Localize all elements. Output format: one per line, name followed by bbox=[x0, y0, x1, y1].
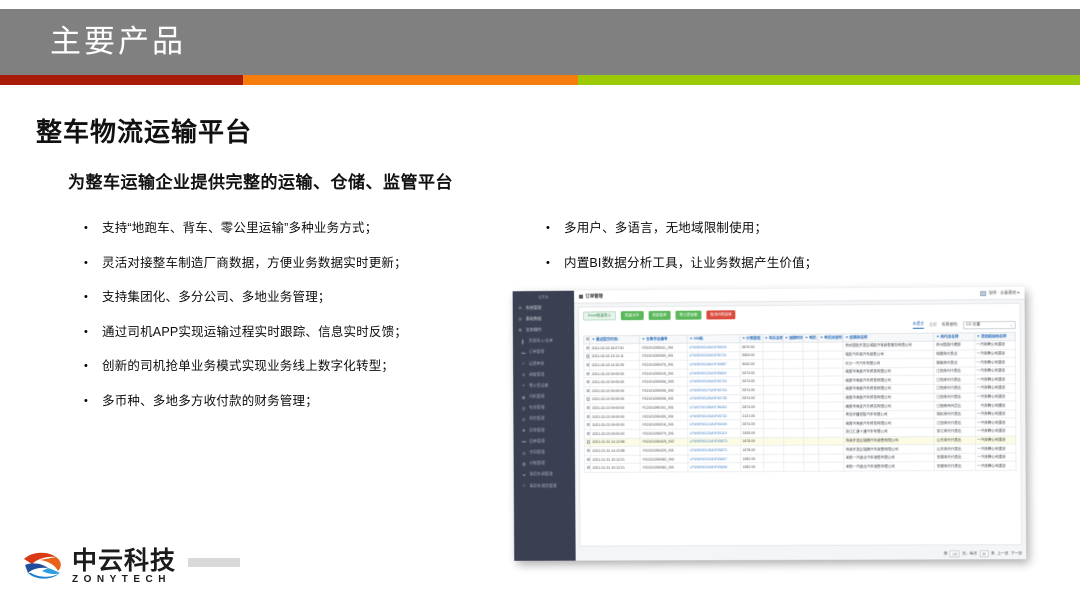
table-cell-5 bbox=[783, 403, 803, 412]
filter-icon: ▼ bbox=[592, 337, 596, 341]
table-cell-3: 2674.00 bbox=[740, 403, 763, 412]
table-cell-7 bbox=[818, 342, 843, 351]
table-cell-7 bbox=[818, 419, 843, 428]
chart-icon: ▦ bbox=[518, 327, 523, 332]
table-cell-9: 浙江商代代表出 bbox=[935, 427, 976, 436]
table-cell-1: YS2101250079_001 bbox=[640, 429, 688, 438]
table-cell-1: YS2101250096_003 bbox=[640, 378, 688, 387]
table-cell-1: YS2101250096_002 bbox=[640, 386, 688, 395]
sidebar-item-label: 系统管理 bbox=[526, 304, 567, 310]
truck-icon: ▬ bbox=[521, 350, 526, 355]
table-cell-9: 山东商代代表出 bbox=[935, 445, 976, 454]
table-cell-0: 2021-02-02 09:00:00 bbox=[590, 412, 640, 421]
table-cell-3: 2425.00 bbox=[740, 429, 763, 438]
table-cell-6 bbox=[803, 411, 818, 420]
sidebar-item-11[interactable]: ◉异常管理 bbox=[513, 424, 574, 436]
table-cell-0: 2021-01-31 14:12:58 bbox=[590, 446, 640, 455]
table-cell-3: 3042.00 bbox=[740, 360, 763, 369]
image-icon: ▥ bbox=[521, 405, 526, 410]
table-cell-10: 一汽奔腾公司建设 bbox=[975, 401, 1016, 410]
bullet-text: 创新的司机抢单业务模式实现业务线上数字化转型； bbox=[102, 357, 394, 375]
avatar bbox=[980, 291, 986, 296]
bullet-marker-icon: • bbox=[84, 357, 102, 375]
sidebar-item-label: 订单管理 bbox=[529, 349, 568, 355]
table-cell-6 bbox=[803, 377, 818, 386]
section-heading: 整车物流运输平台 bbox=[36, 112, 252, 149]
table-cell-9: 江西商代代表出 bbox=[934, 401, 975, 410]
table-cell-2: LFWSRKSJ3M1F05119 bbox=[688, 429, 741, 438]
bullet-text: 支持集团化、多分公司、多地业务管理； bbox=[102, 288, 331, 306]
table-cell-9: 江西商代代表出 bbox=[934, 419, 975, 428]
table-cell-7 bbox=[819, 454, 844, 463]
table-cell-4 bbox=[763, 428, 783, 437]
sidebar-item-label: 对账管理 bbox=[529, 460, 568, 466]
star-icon: ✦ bbox=[521, 383, 526, 388]
table-cell-2: LFWSRKSJ3M1F05872 bbox=[688, 446, 741, 455]
table-cell-5 bbox=[783, 394, 803, 403]
filter-icon: ▼ bbox=[805, 335, 809, 339]
breadcrumb-label: 订单管理 bbox=[585, 293, 602, 299]
table-cell-7 bbox=[819, 463, 844, 472]
sidebar-item-label: 回单管理 bbox=[529, 438, 568, 444]
table-cell-10: 一汽奔腾公司建设 bbox=[975, 358, 1016, 367]
table-cell-1: YS2101250429_001 bbox=[640, 446, 688, 455]
table-cell-3: 2674.00 bbox=[740, 394, 763, 403]
filter-icon: ▼ bbox=[742, 336, 746, 340]
column-header-label: 计费里程 bbox=[746, 336, 760, 340]
shield-icon: ▤ bbox=[521, 416, 526, 421]
topbar-spacer bbox=[603, 293, 980, 296]
pagination-mid: 页，每页 bbox=[962, 551, 977, 556]
sidebar-item-label: 乘用车保险管理 bbox=[530, 483, 569, 489]
table-cell-2: LFWSRKSJ5M1F05735 bbox=[688, 394, 741, 403]
table-cell-4 bbox=[763, 342, 783, 351]
table-cell-3: 3903.00 bbox=[740, 351, 763, 360]
table-cell-2: LFWSRKSJ3M1F05029 bbox=[687, 343, 740, 352]
table-cell-6 bbox=[803, 359, 818, 368]
filter-icon: ▼ bbox=[689, 336, 693, 340]
pagination: 第 1/2 页，每页 20 条 上一页 下一页 bbox=[576, 548, 1027, 561]
column-header-10[interactable]: ▼发运起始地名称 bbox=[975, 332, 1016, 341]
sidebar-item-3[interactable]: ▌资源导入/出单 bbox=[513, 335, 574, 347]
table-cell-0: 2021-02-03 16:07:51 bbox=[590, 344, 640, 353]
accent-rule bbox=[0, 75, 1080, 85]
table-cell-4 bbox=[763, 351, 783, 360]
table-cell-0: 2021-02-02 09:00:00 bbox=[590, 378, 640, 387]
accent-rule-orange bbox=[243, 75, 578, 85]
table-cell-0: 2021-02-02 09:00:00 bbox=[590, 369, 640, 378]
base-select-value: CC-长春 bbox=[966, 322, 980, 327]
table-cell-1: YS2101250430_001 bbox=[640, 412, 688, 421]
sidebar-item-0[interactable]: ✿系统管理‹ bbox=[513, 302, 574, 314]
table-cell-1: YS2101250101_001 bbox=[640, 403, 688, 412]
table-cell-1: YS2101250475_001 bbox=[640, 360, 688, 369]
table-cell-5 bbox=[783, 411, 803, 420]
table-cell-4 bbox=[763, 403, 783, 412]
sidebar-item-label: 基础数据 bbox=[526, 315, 567, 321]
table-cell-7 bbox=[818, 351, 843, 360]
id-icon: ▣ bbox=[521, 394, 526, 399]
table-cell-9: 江西商代代表出 bbox=[934, 393, 975, 402]
column-header-3[interactable]: ▼计费里程 bbox=[740, 334, 763, 343]
sidebar-item-14[interactable]: ▩对账管理 bbox=[514, 458, 575, 469]
table-cell-3: 2674.00 bbox=[740, 377, 763, 386]
toolbar-button-0[interactable]: Excel批量导入 bbox=[583, 311, 616, 320]
table-cell-4 bbox=[763, 463, 783, 472]
orders-table: ▼最近提交时间↓▼仓库作业编号▼VIN码▼计费里程▼车队名称▼运期时间▼司机▼司… bbox=[583, 332, 1016, 473]
table-cell-5 bbox=[783, 420, 803, 429]
column-header-label: 司机派送时间 bbox=[824, 335, 843, 339]
bullet-text: 内置BI数据分析工具，让业务数据产生价值； bbox=[564, 254, 818, 272]
next-page-button[interactable]: 下一页 bbox=[1011, 551, 1022, 556]
bullet-text: 通过司机APP实现运输过程实时跟踪、信息实时反馈； bbox=[102, 323, 407, 341]
section-subheading: 为整车运输企业提供完整的运输、仓储、监管平台 bbox=[68, 168, 453, 193]
table-cell-4 bbox=[763, 377, 783, 386]
table-cell-1: YS2101250429_002 bbox=[640, 438, 688, 447]
column-header-label: 商代店名称 bbox=[940, 334, 958, 338]
table-cell-0: 2021-01-31 10:12:21 bbox=[590, 455, 640, 464]
column-header-label: 运期时间 bbox=[789, 336, 803, 340]
sidebar-item-label: 轨迹管理 bbox=[529, 405, 568, 411]
sidebar-item-label: 异常管理 bbox=[529, 427, 568, 433]
table-cell-9: 江西商代代表出 bbox=[934, 375, 975, 384]
bullet-item: •创新的司机抢单业务模式实现业务线上数字化转型； bbox=[84, 357, 514, 375]
filter-tab-active[interactable]: 未提交 bbox=[913, 322, 925, 329]
table-cell-6 bbox=[803, 454, 818, 463]
table-cell-6 bbox=[803, 420, 818, 429]
logo-english-name: ZONYTECH bbox=[72, 574, 176, 586]
table-cell-4 bbox=[763, 360, 783, 369]
bullet-marker-icon: • bbox=[546, 219, 564, 237]
app-content-panel: Excel批量导入批量派车批量接单零公里运输取消司机接单 未提交 全部 所属基地… bbox=[578, 303, 1022, 547]
sidebar-item-16[interactable]: ✎乘用车保险管理 bbox=[514, 480, 575, 491]
slide-root: 主要产品 整车物流运输平台 为整车运输企业提供完整的运输、仓储、监管平台 •支持… bbox=[0, 0, 1080, 608]
table-cell-1: YS2101250015_001 bbox=[640, 369, 688, 378]
sidebar-item-6[interactable]: ◍调度管理 bbox=[513, 369, 574, 381]
breadcrumb: 订单管理 bbox=[579, 293, 603, 299]
table-cell-10: 一汽奔腾公司建设 bbox=[975, 427, 1016, 436]
table-cell-10: 一汽奔腾公司建设 bbox=[975, 410, 1016, 419]
pagination-prefix: 第 bbox=[944, 551, 948, 556]
toolbar-button-4[interactable]: 取消司机接单 bbox=[706, 310, 736, 319]
sidebar-item-label: 零公里运输 bbox=[529, 382, 568, 388]
table-cell-4 bbox=[763, 385, 783, 394]
accent-rule-red bbox=[0, 75, 243, 85]
table-cell-5 bbox=[783, 454, 803, 463]
chevron-icon: ⌄ bbox=[567, 328, 570, 332]
table-cell-7 bbox=[818, 411, 843, 420]
table-cell-4 bbox=[763, 446, 783, 455]
table-cell-2: LFWSRKSJ2M1F05602 bbox=[687, 369, 740, 378]
table-cell-2: LFWSRKSJ8M1F05587 bbox=[687, 360, 740, 369]
sidebar-item-label: 调度管理 bbox=[529, 371, 568, 377]
page-size-select[interactable]: 20 bbox=[980, 551, 989, 558]
table-cell-10: 一汽奔腾公司建设 bbox=[975, 392, 1016, 401]
table-cell-5 bbox=[783, 368, 803, 377]
prev-page-button[interactable]: 上一页 bbox=[997, 551, 1008, 556]
table-cell-3: 2674.00 bbox=[740, 368, 763, 377]
table-cell-2: LFWSRKSJ6M1F05402 bbox=[688, 403, 741, 412]
bullet-item: •多币种、多地多方收付款的财务管理； bbox=[84, 392, 514, 410]
column-header-9[interactable]: ▼商代店名称 bbox=[934, 332, 975, 341]
table-cell-10: 一汽奔腾公司建设 bbox=[975, 375, 1016, 384]
link-icon: ✎ bbox=[522, 483, 527, 488]
logo-rule bbox=[188, 558, 240, 567]
table-cell-1: YS2101250096_001 bbox=[640, 395, 688, 404]
table-cell-1: YS2101250016_001 bbox=[640, 420, 688, 429]
table-cell-7 bbox=[818, 394, 843, 403]
sidebar-item-12[interactable]: ▬回单管理 bbox=[514, 435, 575, 446]
car-icon: ▰ bbox=[522, 472, 527, 477]
page-select[interactable]: 1/2 bbox=[950, 551, 960, 558]
app-filter-row: 未提交 全部 所属基地: CC-长春 ⌄ bbox=[583, 320, 1016, 332]
sidebar-item-label: 司机管理 bbox=[529, 393, 568, 399]
bullet-marker-icon: • bbox=[546, 254, 564, 272]
table-cell-7 bbox=[818, 359, 843, 368]
table-cell-9: 江西商代代表出 bbox=[934, 384, 975, 393]
bullet-item: •多用户、多语言，无地域限制使用； bbox=[546, 219, 966, 237]
sidebar-item-label: 保险管理 bbox=[529, 416, 568, 422]
sidebar-item-9[interactable]: ▥轨迹管理 bbox=[513, 402, 574, 414]
bullet-item: •支持集团化、多分公司、多地业务管理； bbox=[84, 288, 514, 306]
table-cell-2: LFWSRKSJ7M1F05733 bbox=[687, 386, 740, 395]
clock-icon: ◍ bbox=[521, 372, 526, 377]
column-header-label: VIN码 bbox=[694, 336, 704, 340]
bullet-marker-icon: • bbox=[84, 392, 102, 410]
column-header-6[interactable]: ▼司机 bbox=[803, 334, 818, 343]
sidebar-item-7[interactable]: ✦零公里运输 bbox=[513, 380, 574, 392]
filter-icon: ▼ bbox=[820, 335, 824, 339]
table-row[interactable]: 2021-01-31 10:12:21YS2101250082_001LFWSR… bbox=[584, 462, 1016, 473]
bullet-marker-icon: • bbox=[84, 219, 102, 237]
table-cell-4 bbox=[763, 411, 783, 420]
column-header-label: 经销商名称 bbox=[849, 335, 867, 339]
bullet-marker-icon: • bbox=[84, 254, 102, 272]
bullet-item: •通过司机APP实现运输过程实时跟踪、信息实时反馈； bbox=[84, 323, 514, 341]
table-cell-2: LFWSRKSJ1M1F05873 bbox=[688, 437, 741, 446]
table-cell-2: LFWSRKSJ1M1F05449 bbox=[688, 420, 741, 429]
column-header-label: 司机 bbox=[809, 335, 816, 339]
table-cell-8: 阜阳一汽鑫业汽车销售有限公司 bbox=[844, 462, 935, 471]
grid-icon bbox=[579, 295, 583, 299]
bullet-marker-icon: • bbox=[84, 288, 102, 306]
orders-table-body: 2021-02-03 16:07:51YS2101250041_001LFWSR… bbox=[584, 341, 1016, 473]
table-cell-4 bbox=[763, 368, 783, 377]
bullet-item: •内置BI数据分析工具，让业务数据产生价值； bbox=[546, 254, 966, 272]
company-logo: 中云科技 ZONYTECH bbox=[22, 548, 240, 586]
accent-rule-green bbox=[578, 75, 1080, 85]
table-cell-1: YS2101250059_001 bbox=[640, 352, 688, 361]
column-header-4[interactable]: ▼车队名称 bbox=[762, 334, 782, 343]
table-cell-6 bbox=[803, 437, 818, 446]
table-cell-5 bbox=[783, 446, 803, 455]
table-cell-6 bbox=[803, 428, 818, 437]
table-cell-9: 安徽商代代表出 bbox=[935, 453, 976, 462]
table-cell-5 bbox=[783, 360, 803, 369]
table-cell-0: 2021-02-02 09:00:00 bbox=[590, 386, 640, 395]
table-cell-3: 1952.00 bbox=[741, 454, 764, 463]
table-cell-6 bbox=[803, 351, 818, 360]
bullet-text: 多币种、多地多方收付款的财务管理； bbox=[102, 392, 318, 410]
table-cell-6 bbox=[803, 342, 818, 351]
pagination-suffix: 条 bbox=[991, 551, 995, 556]
table-cell-1: YS2101250082_002 bbox=[640, 455, 688, 464]
table-cell-5 bbox=[783, 437, 803, 446]
gear-icon: ✿ bbox=[518, 305, 523, 310]
base-select-label: 所属基地: bbox=[942, 322, 958, 327]
sidebar-item-4[interactable]: ▬订单管理 bbox=[513, 346, 574, 358]
bullet-list-right: •多用户、多语言，无地域限制使用；•内置BI数据分析工具，让业务数据产生价值； bbox=[546, 219, 966, 288]
table-cell-0: 2021-02-03 14:32:25 bbox=[590, 361, 640, 370]
table-cell-4 bbox=[763, 394, 783, 403]
table-cell-4 bbox=[763, 437, 783, 446]
table-cell-1: YS2101250041_001 bbox=[640, 343, 688, 352]
bullet-text: 支持“地跑车、背车、零公里运输”多种业务方式； bbox=[102, 219, 377, 237]
table-cell-3: 1952.00 bbox=[741, 463, 764, 472]
chevron-down-icon: ⌄ bbox=[1009, 322, 1012, 326]
column-header-5[interactable]: ▼运期时间 bbox=[783, 334, 803, 343]
table-cell-10: 一汽奔腾公司建设 bbox=[975, 367, 1016, 376]
sidebar-item-label: 业务操作 bbox=[526, 327, 565, 333]
table-cell-9: 湖北商代代表出 bbox=[934, 410, 975, 419]
table-cell-2: LFWSRKSJ3M1F05732 bbox=[688, 412, 741, 421]
print-icon: ▩ bbox=[522, 461, 527, 466]
table-cell-10: 一汽奔腾公司建设 bbox=[975, 444, 1016, 453]
table-cell-7 bbox=[818, 445, 843, 454]
ban-icon: ◉ bbox=[521, 428, 526, 433]
sidebar-item-10[interactable]: ▤保险管理 bbox=[513, 413, 574, 425]
app-topbar: 订单管理 张明 · 长春基地 ▾ bbox=[574, 287, 1025, 304]
table-cell-0: 2021-02-02 09:00:00 bbox=[590, 395, 640, 404]
table-cell-3: 2121.00 bbox=[740, 411, 763, 420]
user-menu[interactable]: 张明 · 长春基地 ▾ bbox=[980, 290, 1020, 296]
bullet-text: 多用户、多语言，无地域限制使用； bbox=[564, 219, 767, 237]
table-cell-6 bbox=[803, 394, 818, 403]
table-cell-6 bbox=[803, 385, 818, 394]
toolbar-button-1[interactable]: 批量派车 bbox=[621, 311, 643, 320]
bullet-item: •支持“地跑车、背车、零公里运输”多种业务方式； bbox=[84, 219, 514, 237]
sidebar-item-label: 乘用车调管理 bbox=[530, 471, 569, 477]
table-cell-5 bbox=[783, 377, 803, 386]
tag-icon: ▬ bbox=[521, 439, 526, 444]
sidebar-item-label: 资源导入/出单 bbox=[529, 338, 568, 344]
app-main: 订单管理 张明 · 长春基地 ▾ Excel批量导入批量派车批量接单零公里运输取… bbox=[574, 287, 1026, 561]
table-cell-9: 湖南商代表出 bbox=[934, 358, 975, 367]
base-select[interactable]: CC-长春 ⌄ bbox=[963, 320, 1016, 328]
table-cell-10: 一汽奔腾公司建设 bbox=[975, 384, 1016, 393]
table-cell-10: 一汽奔腾公司建设 bbox=[975, 462, 1016, 471]
filter-tab-all[interactable]: 全部 bbox=[929, 323, 937, 328]
table-cell-9: 安徽商代代表出 bbox=[935, 462, 976, 471]
sidebar-item-1[interactable]: ▤基础数据‹ bbox=[513, 313, 574, 325]
table-cell-10: 一汽奔腾公司建设 bbox=[975, 453, 1016, 462]
table-cell-3: 1678.00 bbox=[741, 446, 764, 455]
table-cell-9: 江西商代代表出 bbox=[934, 367, 975, 376]
sidebar-item-8[interactable]: ▣司机管理 bbox=[513, 391, 574, 403]
bullet-text: 灵活对接整车制造厂商数据，方便业务数据实时更新； bbox=[102, 254, 407, 272]
table-cell-4 bbox=[763, 420, 783, 429]
flag-icon: ▌ bbox=[521, 339, 526, 344]
page-title: 主要产品 bbox=[50, 21, 186, 63]
doc-icon: ▤ bbox=[522, 450, 527, 455]
sidebar-item-label: 合同管理 bbox=[529, 449, 568, 455]
table-cell-7 bbox=[818, 376, 843, 385]
table-cell-9: 贵州国投代理部 bbox=[934, 341, 975, 350]
table-cell-2: LFWSRKSJ0M1F05734 bbox=[687, 377, 740, 386]
table-cell-5 bbox=[783, 342, 803, 351]
table-cell-3: 1678.00 bbox=[740, 437, 763, 446]
table-cell-5 bbox=[783, 428, 803, 437]
chevron-icon: ‹ bbox=[569, 305, 570, 309]
table-cell-10: 一汽奔腾公司建设 bbox=[975, 436, 1016, 445]
table-cell-5 bbox=[783, 351, 803, 360]
table-cell-0: 2021-02-02 09:00:00 bbox=[590, 429, 640, 438]
column-header-label: 最近提交时间↓ bbox=[596, 337, 619, 341]
page-size-value: 20 bbox=[982, 552, 986, 556]
column-header-1[interactable]: ▼仓库作业编号 bbox=[640, 335, 688, 344]
user-menu-label: 张明 · 长春基地 ▾ bbox=[988, 290, 1019, 296]
column-header-label: 仓库作业编号 bbox=[646, 337, 667, 341]
toolbar-button-2[interactable]: 批量接单 bbox=[648, 311, 670, 320]
table-cell-0: 2021-01-31 14:12:58 bbox=[590, 438, 640, 447]
filter-icon: ▼ bbox=[845, 335, 849, 339]
table-cell-7 bbox=[818, 428, 843, 437]
table-cell-3: 2674.00 bbox=[740, 420, 763, 429]
table-cell-4 bbox=[763, 454, 783, 463]
table-cell-2: LFWSRKSJ0M1F05731 bbox=[687, 351, 740, 360]
sidebar-item-2[interactable]: ▦业务操作⌄ bbox=[513, 324, 574, 336]
table-cell-10: 一汽奔腾公司建设 bbox=[975, 341, 1016, 350]
table-cell-7 bbox=[818, 402, 843, 411]
table-cell-3: 2674.00 bbox=[740, 386, 763, 395]
column-header-7[interactable]: ▼司机派送时间 bbox=[818, 333, 843, 342]
logo-chinese-name: 中云科技 bbox=[72, 548, 176, 574]
table-cell-7 bbox=[818, 385, 843, 394]
table-cell-9: 瑞德商代表出 bbox=[934, 350, 975, 359]
table-cell-5 bbox=[783, 385, 803, 394]
column-header-0[interactable]: ▼最近提交时间↓ bbox=[590, 335, 640, 344]
filter-icon: ▼ bbox=[642, 337, 646, 341]
bullet-marker-icon: • bbox=[84, 323, 102, 341]
column-header-label: 车队名称 bbox=[769, 336, 783, 340]
app-sidebar-logo: 云平台 bbox=[513, 293, 574, 303]
table-cell-0: 2021-02-02 09:00:00 bbox=[590, 421, 640, 430]
table-cell-7 bbox=[818, 437, 843, 446]
zonytech-mark-icon bbox=[22, 548, 64, 586]
sidebar-item-15[interactable]: ▰乘用车调管理 bbox=[514, 469, 575, 480]
table-cell-3: 3679.00 bbox=[740, 343, 763, 352]
sidebar-item-13[interactable]: ▤合同管理 bbox=[514, 447, 575, 458]
table-cell-10: 一汽奔腾公司建设 bbox=[975, 418, 1016, 427]
sidebar-item-5[interactable]: ✔运营审核 bbox=[513, 357, 574, 369]
table-cell-6 bbox=[803, 402, 818, 411]
table-cell-0: 2021-02-03 13:12:11 bbox=[590, 352, 640, 361]
table-cell-0: 2021-01-31 10:12:21 bbox=[590, 464, 640, 473]
table-cell-5 bbox=[783, 463, 803, 472]
filter-icon: ▼ bbox=[977, 334, 981, 338]
bullet-list-left: •支持“地跑车、背车、零公里运输”多种业务方式；•灵活对接整车制造厂商数据，方便… bbox=[84, 219, 514, 426]
app-toolbar: Excel批量导入批量派车批量接单零公里运输取消司机接单 bbox=[583, 308, 1016, 320]
app-screenshot: 云平台 ✿系统管理‹▤基础数据‹▦业务操作⌄▌资源导入/出单▬订单管理✔运营审核… bbox=[513, 287, 1027, 561]
bullet-item: •灵活对接整车制造厂商数据，方便业务数据实时更新； bbox=[84, 254, 514, 272]
table-cell-7 bbox=[818, 368, 843, 377]
sidebar-item-label: 运营审核 bbox=[529, 360, 568, 366]
table-cell-9: 山东商代代表出 bbox=[935, 436, 976, 445]
table-cell-10: 一汽奔腾公司建设 bbox=[975, 349, 1016, 358]
table-cell-6 bbox=[803, 445, 818, 454]
toolbar-button-3[interactable]: 零公里运输 bbox=[675, 311, 701, 320]
table-cell-6 bbox=[803, 463, 818, 472]
